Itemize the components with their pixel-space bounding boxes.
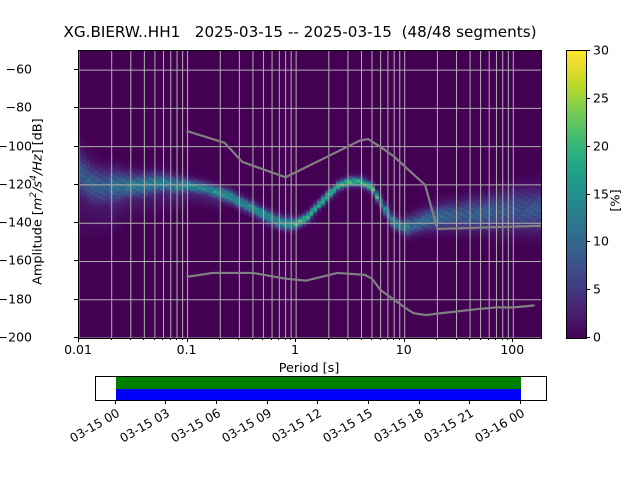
timeline-tick-mark: [520, 400, 521, 404]
colorbar-tick-mark: [586, 98, 590, 99]
colorbar-tick-label: 5: [593, 282, 601, 297]
y-tick-mark: [74, 107, 78, 108]
x-tick-label: 1: [291, 342, 299, 357]
timeline-tick-mark: [165, 400, 166, 404]
colorbar: [566, 50, 587, 339]
x-tick-mark-minor: [130, 338, 131, 340]
colorbar-tick-mark: [586, 50, 590, 51]
page-title: XG.BIERW..HH1 2025-03-15 -- 2025-03-15 (…: [0, 23, 600, 41]
x-tick-mark-minor: [480, 338, 481, 340]
x-tick-mark-minor: [143, 338, 144, 340]
colorbar-tick-mark: [586, 146, 590, 147]
x-tick-mark-minor: [252, 338, 253, 340]
timeline-tick-mark: [419, 400, 420, 404]
y-tick-mark: [74, 69, 78, 70]
colorbar-tick-label: 30: [593, 43, 609, 58]
colorbar-tick-mark: [586, 194, 590, 195]
timeline-tick-label: 03-15 06: [161, 406, 223, 450]
x-tick-label: 10: [396, 342, 412, 357]
x-tick-mark-minor: [495, 338, 496, 340]
colorbar-tick-mark: [586, 241, 590, 242]
x-tick-mark-minor: [328, 338, 329, 340]
x-tick-mark-minor: [176, 338, 177, 340]
x-tick-mark-minor: [361, 338, 362, 340]
x-tick-mark-minor: [182, 338, 183, 340]
x-tick-mark-minor: [170, 338, 171, 340]
y-tick-mark: [74, 260, 78, 261]
y-tick-mark: [74, 299, 78, 300]
y-tick-label: −60: [6, 62, 32, 77]
x-tick-mark-minor: [290, 338, 291, 340]
x-tick-mark-minor: [502, 338, 503, 340]
timeline-tick-mark: [317, 400, 318, 404]
timeline-tick-mark: [115, 400, 116, 404]
x-tick-mark-minor: [262, 338, 263, 340]
colorbar-tick-mark: [586, 289, 590, 290]
colorbar-tick-label: 10: [593, 234, 609, 249]
x-tick-label: 0.01: [64, 342, 92, 357]
x-tick-mark-minor: [219, 338, 220, 340]
x-tick-mark-minor: [469, 338, 470, 340]
x-tick-label: 0.1: [177, 342, 197, 357]
colorbar-tick-label: 20: [593, 138, 609, 153]
y-tick-label: −140: [0, 215, 32, 230]
y-tick-mark: [74, 184, 78, 185]
noise-model-curves: [79, 51, 541, 338]
timeline-tick-mark: [368, 400, 369, 404]
colorbar-tick-label: 25: [593, 90, 609, 105]
x-tick-mark-minor: [278, 338, 279, 340]
x-tick-mark-minor: [285, 338, 286, 340]
y-tick-mark: [74, 146, 78, 147]
data-coverage-timeline: [95, 376, 547, 401]
y-tick-label: −100: [0, 138, 32, 153]
ppsd-figure: XG.BIERW..HH1 2025-03-15 -- 2025-03-15 (…: [0, 0, 640, 480]
x-tick-mark-minor: [111, 338, 112, 340]
timeline-tick-mark: [267, 400, 268, 404]
x-tick-mark-minor: [507, 338, 508, 340]
x-tick-mark-minor: [271, 338, 272, 340]
x-tick-mark-minor: [380, 338, 381, 340]
y-tick-mark: [74, 222, 78, 223]
timeline-tick-mark: [469, 400, 470, 404]
x-tick-mark-minor: [399, 338, 400, 340]
colorbar-gradient: [567, 51, 586, 338]
y-tick-label: −200: [0, 330, 32, 345]
y-tick-label: −180: [0, 291, 32, 306]
y-tick-label: −120: [0, 176, 32, 191]
colorbar-label: [%]: [609, 181, 624, 221]
ppsd-plot-area: [78, 50, 542, 339]
timeline-tick-label: 03-15 15: [312, 406, 374, 450]
colorbar-tick-label: 0: [593, 330, 601, 345]
data-coverage-band: [116, 377, 521, 389]
x-tick-mark-minor: [162, 338, 163, 340]
x-tick-mark-minor: [371, 338, 372, 340]
colorbar-tick-label: 15: [593, 186, 609, 201]
x-tick-mark-minor: [393, 338, 394, 340]
y-tick-label: −80: [6, 100, 32, 115]
x-tick-mark-minor: [456, 338, 457, 340]
x-axis-label: Period [s]: [78, 361, 540, 376]
x-tick-mark-minor: [154, 338, 155, 340]
x-tick-label: 100: [500, 342, 524, 357]
y-tick-label: −160: [0, 253, 32, 268]
timeline-tick-label: 03-16 00: [464, 406, 526, 450]
x-tick-mark-minor: [238, 338, 239, 340]
x-tick-mark-minor: [436, 338, 437, 340]
x-tick-mark-minor: [347, 338, 348, 340]
x-tick-mark-minor: [488, 338, 489, 340]
timeline-tick-mark: [216, 400, 217, 404]
x-tick-mark-minor: [387, 338, 388, 340]
psd-segments-band: [116, 389, 521, 401]
colorbar-tick-mark: [586, 337, 590, 338]
